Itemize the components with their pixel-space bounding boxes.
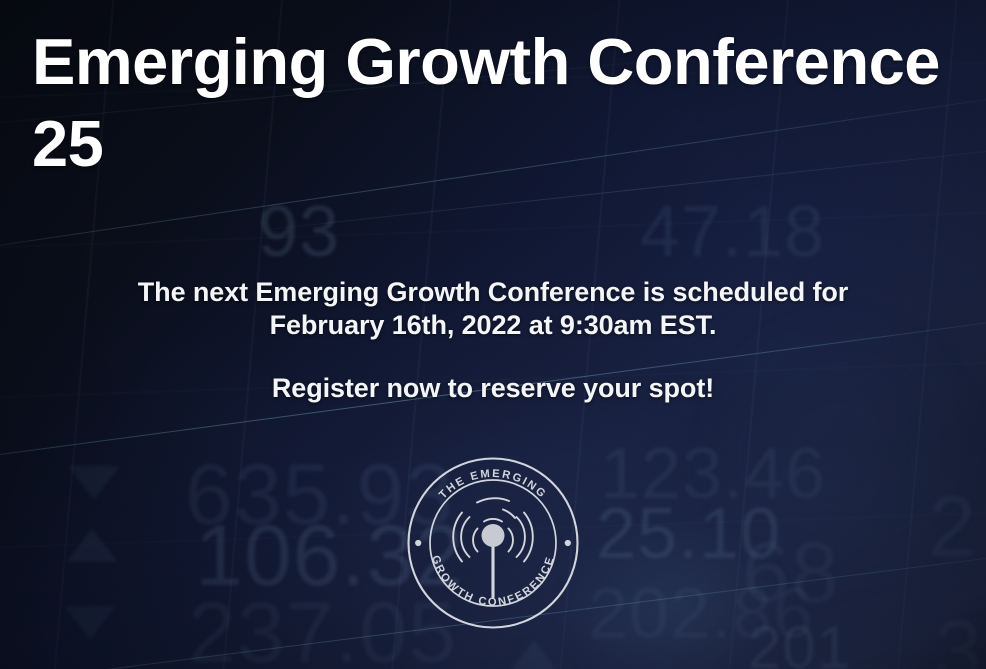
logo-ring-text-top: THE EMERGING — [437, 468, 549, 502]
schedule-line-2: February 16th, 2022 at 9:30am EST. — [0, 309, 986, 342]
schedule-paragraph: The next Emerging Growth Conference is s… — [0, 276, 986, 342]
logo-ring-text-top-path: THE EMERGING — [437, 468, 549, 502]
hero-page: 635.93106.32237.05123.4625.10202.8668201… — [0, 0, 986, 669]
page-title: Emerging Growth Conference 25 — [32, 21, 962, 185]
logo-dot-right — [565, 540, 571, 546]
hero-body-copy: The next Emerging Growth Conference is s… — [0, 276, 986, 405]
broadcast-tower-icon — [453, 498, 533, 597]
hero-content: Emerging Growth Conference 25 The next E… — [0, 0, 986, 669]
logo-dot-left — [415, 540, 421, 546]
conference-logo: THE EMERGING GROWTH CONFERENCE — [405, 455, 581, 631]
register-paragraph: Register now to reserve your spot! — [0, 372, 986, 405]
schedule-line-1: The next Emerging Growth Conference is s… — [0, 276, 986, 309]
